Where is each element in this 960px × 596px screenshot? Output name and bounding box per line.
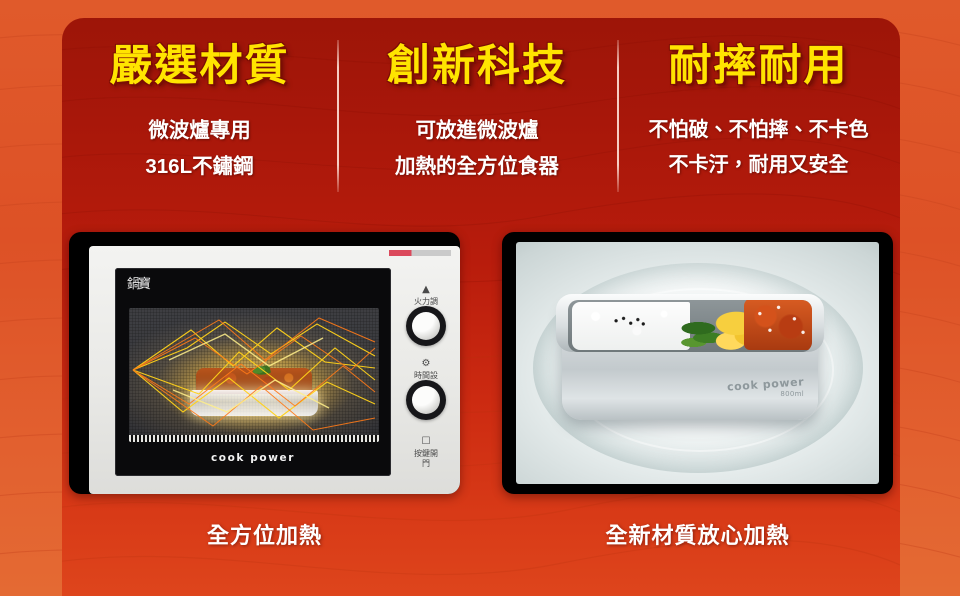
feature-subtitle-1-line-1: 微波爐專用 (145, 113, 253, 148)
microwave-door: 鍋寶 (115, 268, 391, 476)
heat-ray-graphic-icon (129, 308, 379, 442)
feature-column-1: 嚴選材質 微波爐專用 316L不鏽鋼 (62, 18, 337, 218)
stainless-bento-box: cook power 800ml (562, 300, 818, 420)
caption-row: 全方位加熱 全新材質放心加熱 (62, 518, 900, 564)
microwave-control-panel: ▲火力調整 ⚙時間設定 ☐按鍵開門 (401, 268, 451, 476)
microwave-label-strip (389, 250, 451, 256)
photo-microwave-heating: 鍋寶 (69, 232, 460, 494)
feature-column-3: 耐摔耐用 不怕破、不怕摔、不卡色 不卡汙，耐用又安全 (617, 18, 900, 218)
door-open-icon: ☐按鍵開門 (411, 436, 441, 469)
feature-subtitle-2-line-1: 可放進微波爐 (395, 113, 559, 148)
microwave-body: 鍋寶 (89, 246, 460, 494)
feature-subtitle-1-line-2: 316L不鏽鋼 (145, 149, 253, 184)
sesame-seeds-icon (612, 316, 646, 328)
timer-knob[interactable] (406, 380, 446, 420)
photo-row: 鍋寶 (62, 232, 900, 502)
photo-bento-box: cook power 800ml (502, 232, 893, 494)
column-divider-1 (337, 40, 339, 192)
feature-subtitle-2: 可放進微波爐 加熱的全方位食器 (395, 113, 559, 184)
feature-title-2: 創新科技 (387, 40, 567, 92)
feature-subtitle-3-line-1: 不怕破、不怕摔、不卡色 (649, 113, 869, 147)
microwave-interior-scene: cook power 800ml (516, 242, 879, 484)
teriyaki-meat-portion (744, 300, 812, 350)
banner-stage: 嚴選材質 微波爐專用 316L不鏽鋼 創新科技 可放進微波爐 加熱的全方位食器 … (0, 0, 960, 596)
feature-title-1: 嚴選材質 (110, 40, 290, 92)
feature-panel: 嚴選材質 微波爐專用 316L不鏽鋼 創新科技 可放進微波爐 加熱的全方位食器 … (62, 18, 900, 596)
microwave-vent-strip (129, 435, 379, 442)
headline-row: 嚴選材質 微波爐專用 316L不鏽鋼 創新科技 可放進微波爐 加熱的全方位食器 … (62, 18, 900, 218)
microwave-window (129, 308, 379, 442)
feature-subtitle-3: 不怕破、不怕摔、不卡色 不卡汙，耐用又安全 (649, 113, 869, 182)
column-divider-2 (617, 40, 619, 192)
cookpower-chinese-logo-icon: 鍋寶 (127, 278, 157, 302)
microwave-brand-text: cook power (115, 452, 391, 464)
power-knob[interactable] (406, 306, 446, 346)
bento-box-interior (568, 300, 812, 352)
caption-bento: 全新材質放心加熱 (502, 518, 893, 564)
feature-column-2: 創新科技 可放進微波爐 加熱的全方位食器 (337, 18, 617, 218)
feature-subtitle-2-line-2: 加熱的全方位食器 (395, 149, 559, 184)
feature-title-3: 耐摔耐用 (669, 40, 849, 92)
caption-microwave: 全方位加熱 (69, 518, 460, 564)
bento-box-rim (556, 294, 824, 352)
feature-subtitle-1: 微波爐專用 316L不鏽鋼 (145, 113, 253, 184)
bento-box-markings: cook power 800ml (727, 379, 804, 398)
feature-subtitle-3-line-2: 不卡汙，耐用又安全 (649, 148, 869, 182)
